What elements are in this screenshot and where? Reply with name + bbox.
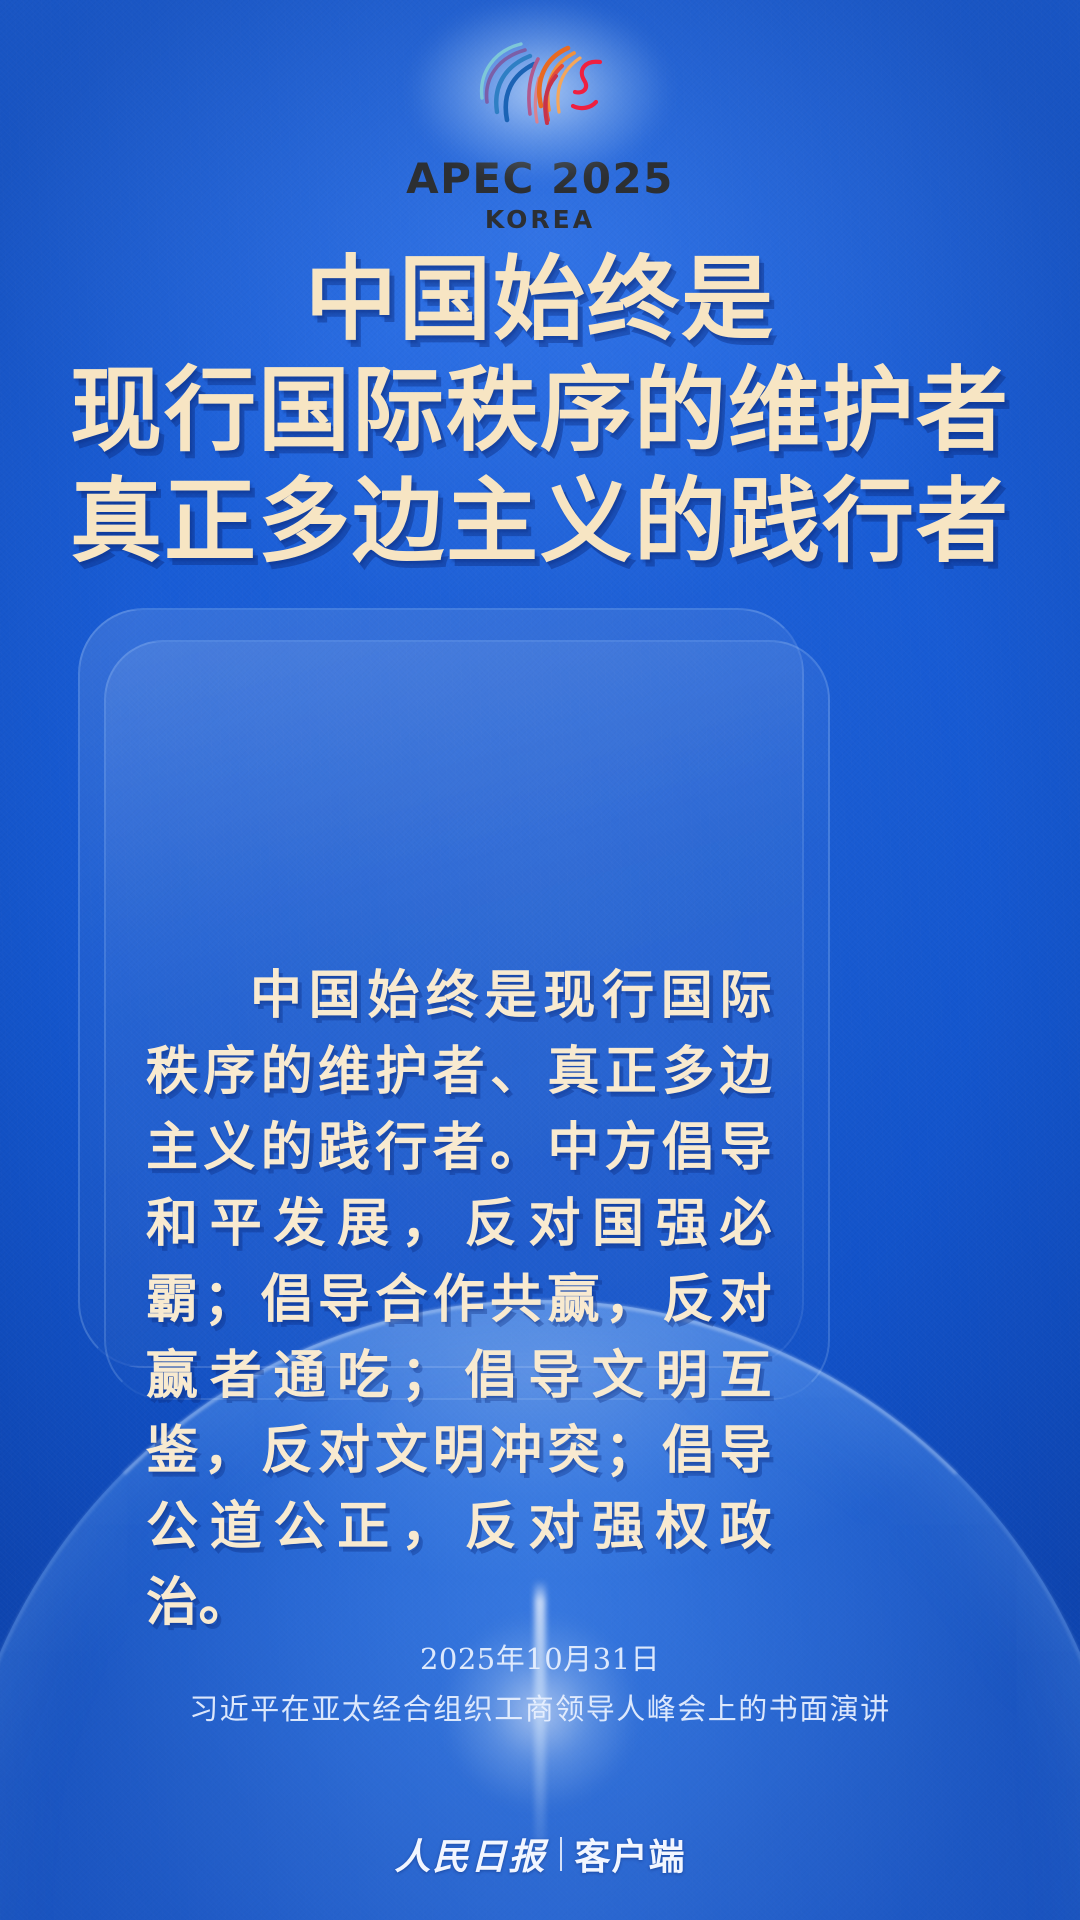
apec-emblem-icon	[435, 26, 645, 154]
attribution-source: 习近平在亚太经合组织工商领导人峰会上的书面演讲	[0, 1688, 1080, 1732]
brand-product-name: 客户端	[575, 1828, 686, 1880]
headline-block: 中国始终是 现行国际秩序的维护者 真正多边主义的践行者	[0, 248, 1080, 573]
poster-root: APEC 2025 KOREA 中国始终是 现行国际秩序的维护者 真正多边主义的…	[0, 0, 1080, 1920]
brand-publisher-name: 人民日报	[394, 1828, 546, 1880]
brand-divider	[560, 1837, 562, 1871]
apec-logo-subtitle: KOREA	[485, 207, 595, 232]
headline-line-3: 真正多边主义的践行者	[0, 470, 1080, 573]
apec-logo: APEC 2025 KOREA	[0, 26, 1080, 232]
headline-line-1: 中国始终是	[0, 248, 1080, 351]
attribution-date: 2025年10月31日	[0, 1638, 1080, 1682]
headline-line-2: 现行国际秩序的维护者	[0, 359, 1080, 462]
brand-watermark: 人民日报 客户端	[0, 1828, 1080, 1880]
attribution-block: 2025年10月31日 习近平在亚太经合组织工商领导人峰会上的书面演讲	[0, 1638, 1080, 1731]
quote-text: 中国始终是现行国际秩序的维护者、真正多边主义的践行者。中方倡导和平发展，反对国强…	[146, 958, 772, 1641]
